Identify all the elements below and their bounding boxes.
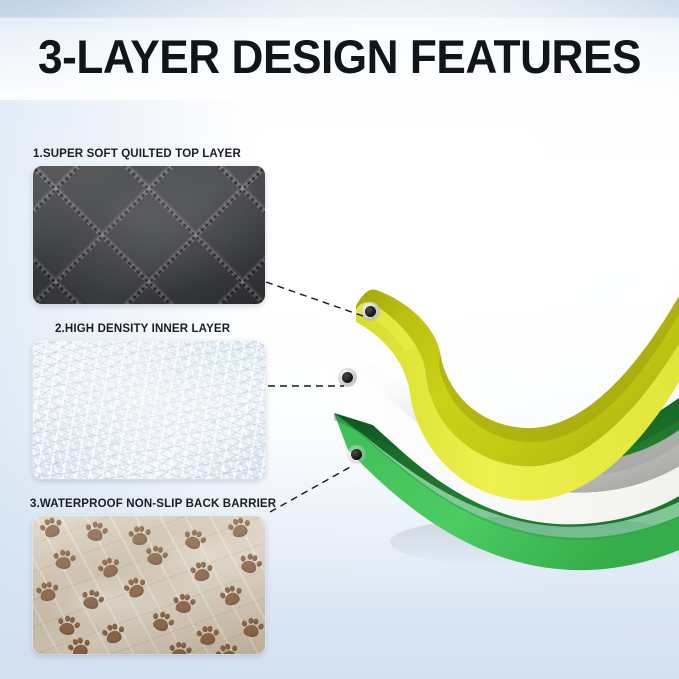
marker-dot-icon — [342, 372, 353, 383]
page-title: 3-LAYER DESIGN FEATURES — [20, 30, 658, 84]
swatch-sheen — [33, 166, 265, 304]
background-band-second — [0, 92, 679, 106]
swatch-sheen — [33, 516, 265, 654]
high-density-inner-layer-swatch — [33, 341, 265, 479]
quilted-top-layer-swatch — [33, 166, 265, 304]
marker-dot-icon — [351, 449, 362, 460]
marker-dot-icon — [365, 306, 376, 317]
waterproof-back-barrier-swatch — [33, 516, 265, 654]
three-layer-cutaway-illustration — [300, 280, 679, 620]
feature-block-1: 1.SUPER SOFT QUILTED TOP LAYER — [33, 148, 265, 304]
feature-label-2: 2.HIGH DENSITY INNER LAYER — [33, 323, 265, 335]
feature-label-3: 3.WATERPROOF NON-SLIP BACK BARRIER — [30, 498, 276, 510]
background-band-top — [0, 18, 679, 24]
marker-back-barrier — [347, 445, 366, 464]
feature-label-1: 1.SUPER SOFT QUILTED TOP LAYER — [33, 148, 265, 160]
marker-top-layer — [361, 302, 380, 321]
infographic-stage: 3-LAYER DESIGN FEATURES — [0, 0, 679, 679]
marker-inner-layer — [338, 368, 357, 387]
feature-block-3: 3.WATERPROOF NON-SLIP BACK BARRIER — [30, 498, 276, 654]
swatch-sheen — [33, 341, 265, 479]
feature-block-2: 2.HIGH DENSITY INNER LAYER — [33, 323, 265, 479]
